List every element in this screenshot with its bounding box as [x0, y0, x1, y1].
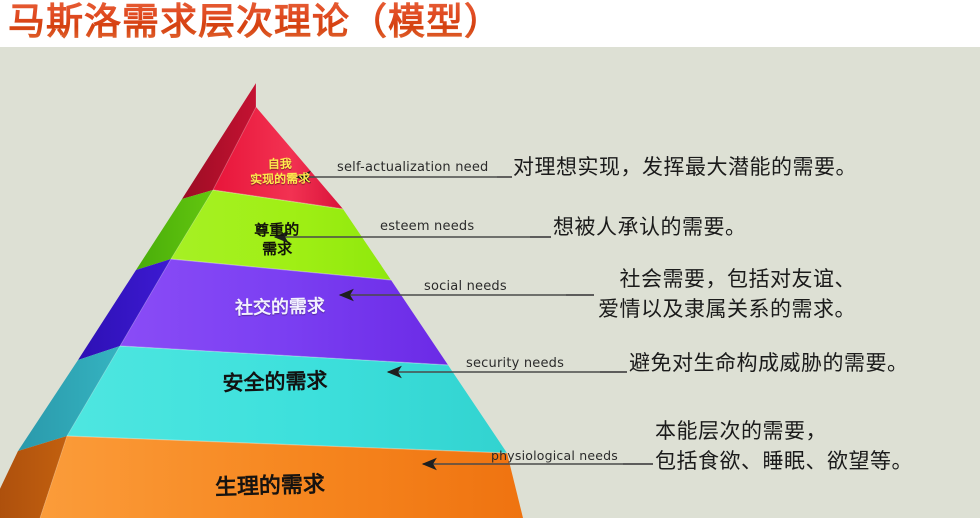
callout-label-security: security needs	[466, 356, 564, 371]
description-esteem: 想被人承认的需要。	[553, 213, 747, 243]
callout-label-esteem: esteem needs	[380, 219, 474, 234]
maslow-diagram-page: 马斯洛需求层次理论（模型）	[0, 0, 980, 518]
callout-label-social: social needs	[424, 279, 507, 294]
description-social: 社会需要，包括对友谊、 爱情以及隶属关系的需求。	[598, 265, 856, 325]
description-physiological: 本能层次的需要， 包括食欲、睡眠、欲望等。	[655, 417, 913, 477]
callout-label-self-actualization: self-actualization need	[337, 160, 489, 175]
callout-label-physiological: physiological needs	[491, 448, 618, 463]
diagram-canvas: 自我 实现的需求 尊重的 需求 社交的需求 安全的需求 生理的需求 self-a…	[0, 47, 980, 518]
description-self-actualization: 对理想实现，发挥最大潜能的需要。	[513, 153, 857, 183]
page-title: 马斯洛需求层次理论（模型）	[8, 0, 502, 46]
description-security: 避免对生命构成威胁的需要。	[629, 349, 909, 379]
title-bar: 马斯洛需求层次理论（模型）	[0, 0, 980, 47]
